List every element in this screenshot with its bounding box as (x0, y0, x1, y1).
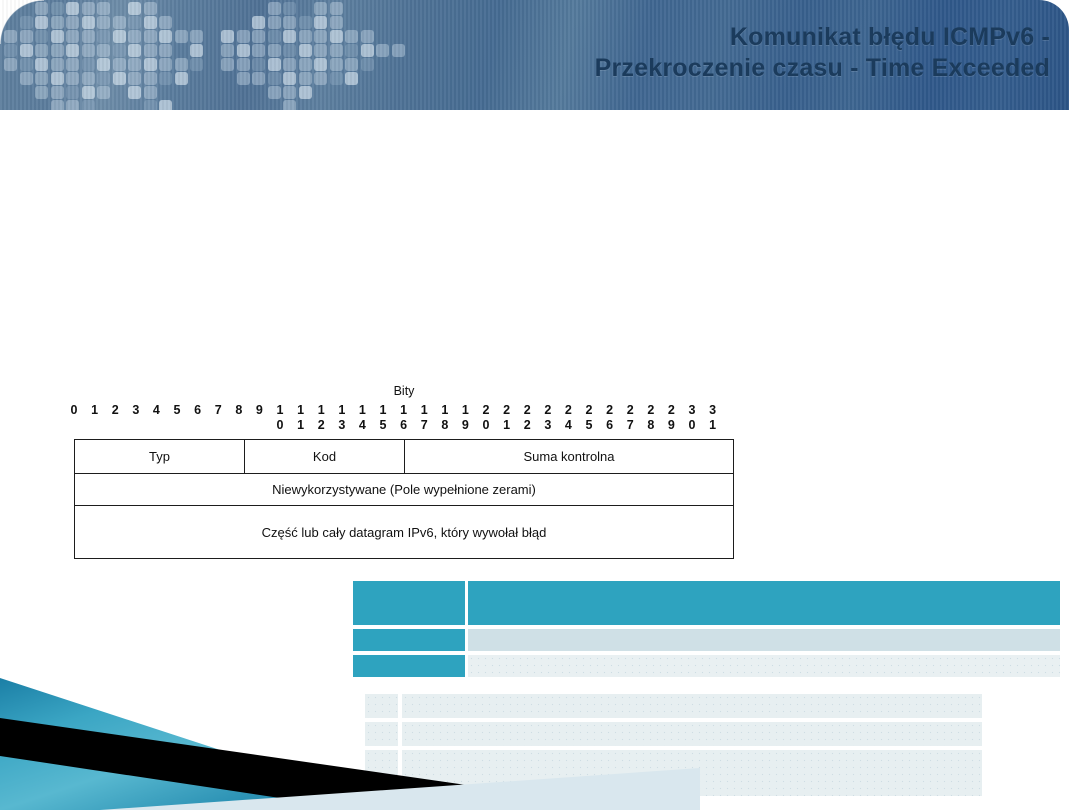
mosaic-dot (97, 2, 110, 15)
mosaic-dot (144, 2, 157, 15)
mosaic-dot (299, 16, 312, 29)
mosaic-dot (113, 58, 126, 71)
mosaic-dot (159, 30, 172, 43)
mosaic-dot (314, 72, 327, 85)
mosaic-dot (113, 44, 126, 57)
mosaic-dot (97, 30, 110, 43)
bit-number-14: 1 4 (355, 403, 369, 433)
mosaic-dot (283, 100, 296, 110)
mosaic-dot (51, 58, 64, 71)
bit-number-24: 2 4 (561, 403, 575, 433)
mosaic-dot (128, 16, 141, 29)
bit-number-21: 2 1 (500, 403, 514, 433)
mosaic-dot (51, 100, 64, 110)
bit-number-16: 1 6 (397, 403, 411, 433)
mosaic-dot (97, 72, 110, 85)
bits-axis-label: Bity (74, 384, 734, 398)
mosaic-dot (345, 58, 358, 71)
mosaic-dot (82, 58, 95, 71)
mosaic-dot (283, 2, 296, 15)
mosaic-dot (113, 30, 126, 43)
mosaic-dot (299, 58, 312, 71)
mosaic-dot (330, 72, 343, 85)
mosaic-dot (128, 44, 141, 57)
mosaic-dot (299, 30, 312, 43)
mosaic-dot (268, 2, 281, 15)
mosaic-dot (237, 30, 250, 43)
mosaic-dot (299, 44, 312, 57)
mosaic-dot (283, 16, 296, 29)
mosaic-dot (221, 58, 234, 71)
mosaic-dot (175, 58, 188, 71)
mosaic-dot (35, 86, 48, 99)
mosaic-dot (190, 30, 203, 43)
table-row (353, 629, 1060, 651)
mosaic-dot (51, 86, 64, 99)
header-cell-col1 (353, 581, 465, 625)
mosaic-dot (159, 100, 172, 110)
mosaic-dot (345, 44, 358, 57)
page-title: Komunikat błędu ICMPv6 - Przekroczenie c… (530, 22, 1050, 84)
mosaic-dot (361, 30, 374, 43)
mosaic-dot (268, 72, 281, 85)
packet-field-checksum: Suma kontrolna (405, 440, 733, 473)
mosaic-dot (159, 16, 172, 29)
mosaic-dot (4, 44, 17, 57)
mosaic-dot (268, 16, 281, 29)
bit-number-30: 3 0 (685, 403, 699, 433)
mosaic-dot (4, 58, 17, 71)
mosaic-dot (128, 58, 141, 71)
mosaic-dot (113, 16, 126, 29)
bit-number-12: 1 2 (314, 403, 328, 433)
mosaic-dot (51, 72, 64, 85)
mosaic-dot (97, 86, 110, 99)
mosaic-dot (252, 30, 265, 43)
mosaic-dot (51, 16, 64, 29)
bit-number-9: 9 (252, 403, 266, 418)
mosaic-dot (82, 44, 95, 57)
mosaic-dot (268, 58, 281, 71)
bit-number-3: 3 (129, 403, 143, 418)
mosaic-dot (66, 72, 79, 85)
packet-field-code: Kod (245, 440, 405, 473)
bit-number-29: 2 9 (664, 403, 678, 433)
mosaic-dot (330, 44, 343, 57)
bit-number-23: 2 3 (541, 403, 555, 433)
mosaic-dot (175, 72, 188, 85)
mosaic-dot (314, 16, 327, 29)
bit-number-11: 1 1 (294, 403, 308, 433)
mosaic-dot (51, 2, 64, 15)
mosaic-dot (97, 44, 110, 57)
mosaic-dot (345, 30, 358, 43)
mosaic-dot (128, 86, 141, 99)
bit-number-28: 2 8 (644, 403, 658, 433)
mosaic-dot (51, 30, 64, 43)
bit-number-5: 5 (170, 403, 184, 418)
mosaic-dot (144, 16, 157, 29)
mosaic-dot (20, 58, 33, 71)
mosaic-dot (314, 44, 327, 57)
mosaic-dot (82, 86, 95, 99)
mosaic-dot (82, 16, 95, 29)
mosaic-dot (314, 2, 327, 15)
bottom-left-corner-decoration (0, 660, 700, 810)
mosaic-dot (20, 44, 33, 57)
mosaic-dot (252, 44, 265, 57)
packet-row-2: Niewykorzystywane (Pole wypełnione zeram… (75, 474, 733, 506)
header-corner-mask (0, 0, 44, 44)
mosaic-dot (283, 86, 296, 99)
mosaic-dot (299, 72, 312, 85)
mosaic-dot (82, 100, 95, 110)
mosaic-dot (51, 44, 64, 57)
mosaic-dot (82, 2, 95, 15)
row-value-cell (468, 629, 1060, 651)
mosaic-dot (66, 86, 79, 99)
slide: Komunikat błędu ICMPv6 - Przekroczenie c… (0, 0, 1080, 810)
bit-number-27: 2 7 (623, 403, 637, 433)
bit-number-13: 1 3 (335, 403, 349, 433)
mosaic-dot (268, 86, 281, 99)
bit-number-4: 4 (149, 403, 163, 418)
mosaic-dot (144, 30, 157, 43)
mosaic-dot (144, 72, 157, 85)
packet-field-unused: Niewykorzystywane (Pole wypełnione zeram… (75, 474, 733, 505)
mosaic-dot (330, 58, 343, 71)
bit-number-7: 7 (211, 403, 225, 418)
mosaic-dot (128, 72, 141, 85)
mosaic-dot (97, 16, 110, 29)
mosaic-dot (159, 72, 172, 85)
mosaic-dot (66, 44, 79, 57)
mosaic-dot (345, 72, 358, 85)
mosaic-dot (66, 58, 79, 71)
bit-number-15: 1 5 (376, 403, 390, 433)
bit-number-6: 6 (191, 403, 205, 418)
page-title-line-1: Komunikat błędu ICMPv6 - (530, 22, 1050, 53)
mosaic-dot (66, 100, 79, 110)
mosaic-dot (82, 30, 95, 43)
mosaic-dot (190, 58, 203, 71)
mosaic-dot (66, 16, 79, 29)
packet-field-table: Typ Kod Suma kontrolna Niewykorzystywane… (74, 439, 734, 559)
mosaic-dot (361, 58, 374, 71)
mosaic-dot (252, 72, 265, 85)
mosaic-dot (175, 30, 188, 43)
mosaic-dot (283, 30, 296, 43)
mosaic-dot (361, 44, 374, 57)
bit-number-1: 1 (88, 403, 102, 418)
mosaic-dot (113, 72, 126, 85)
mosaic-dot (221, 44, 234, 57)
table-header-row (353, 581, 1060, 625)
mosaic-dot (252, 16, 265, 29)
mosaic-dot (190, 44, 203, 57)
mosaic-dot (82, 72, 95, 85)
mosaic-dot (159, 44, 172, 57)
mosaic-dot (283, 58, 296, 71)
mosaic-dot (144, 44, 157, 57)
mosaic-dot (299, 86, 312, 99)
bit-number-8: 8 (232, 403, 246, 418)
bit-number-19: 1 9 (458, 403, 472, 433)
mosaic-dot (237, 44, 250, 57)
mosaic-dot (97, 58, 110, 71)
mosaic-dot (128, 30, 141, 43)
mosaic-dot (221, 30, 234, 43)
mosaic-dot (314, 30, 327, 43)
mosaic-dot (330, 16, 343, 29)
mosaic-dot (392, 44, 405, 57)
page-title-line-2: Przekroczenie czasu - Time Exceeded (530, 53, 1050, 84)
bit-number-31: 3 1 (706, 403, 720, 433)
row-label-cell (353, 629, 465, 651)
mosaic-dot (268, 30, 281, 43)
packet-field-payload: Część lub cały datagram IPv6, który wywo… (75, 506, 733, 558)
bit-number-10: 1 0 (273, 403, 287, 433)
mosaic-dot (314, 58, 327, 71)
mosaic-dot (35, 44, 48, 57)
mosaic-dot (283, 72, 296, 85)
mosaic-dot (159, 58, 172, 71)
header-dot-mosaic-decoration (0, 0, 420, 110)
mosaic-dot (330, 30, 343, 43)
mosaic-dot (237, 58, 250, 71)
mosaic-dot (66, 2, 79, 15)
mosaic-dot (330, 2, 343, 15)
mosaic-dot (144, 100, 157, 110)
packet-row-3: Część lub cały datagram IPv6, który wywo… (75, 506, 733, 558)
packet-row-1: Typ Kod Suma kontrolna (75, 440, 733, 474)
bit-number-25: 2 5 (582, 403, 596, 433)
mosaic-dot (144, 58, 157, 71)
mosaic-dot (128, 2, 141, 15)
mosaic-dot (35, 58, 48, 71)
bit-number-17: 1 7 (417, 403, 431, 433)
mosaic-dot (35, 72, 48, 85)
mosaic-dot (237, 72, 250, 85)
mosaic-dot (252, 58, 265, 71)
bit-ruler: 01234567891 01 11 21 31 41 51 61 71 81 9… (74, 403, 734, 436)
mosaic-dot (66, 30, 79, 43)
mosaic-dot (283, 44, 296, 57)
bit-number-22: 2 2 (520, 403, 534, 433)
mosaic-dot (144, 86, 157, 99)
bit-number-2: 2 (108, 403, 122, 418)
bit-number-18: 1 8 (438, 403, 452, 433)
mosaic-dot (268, 44, 281, 57)
packet-field-type: Typ (75, 440, 245, 473)
header-cell-col2 (468, 581, 1060, 625)
bit-number-26: 2 6 (603, 403, 617, 433)
mosaic-dot (376, 44, 389, 57)
bit-number-20: 2 0 (479, 403, 493, 433)
bit-number-0: 0 (67, 403, 81, 418)
mosaic-dot (20, 72, 33, 85)
